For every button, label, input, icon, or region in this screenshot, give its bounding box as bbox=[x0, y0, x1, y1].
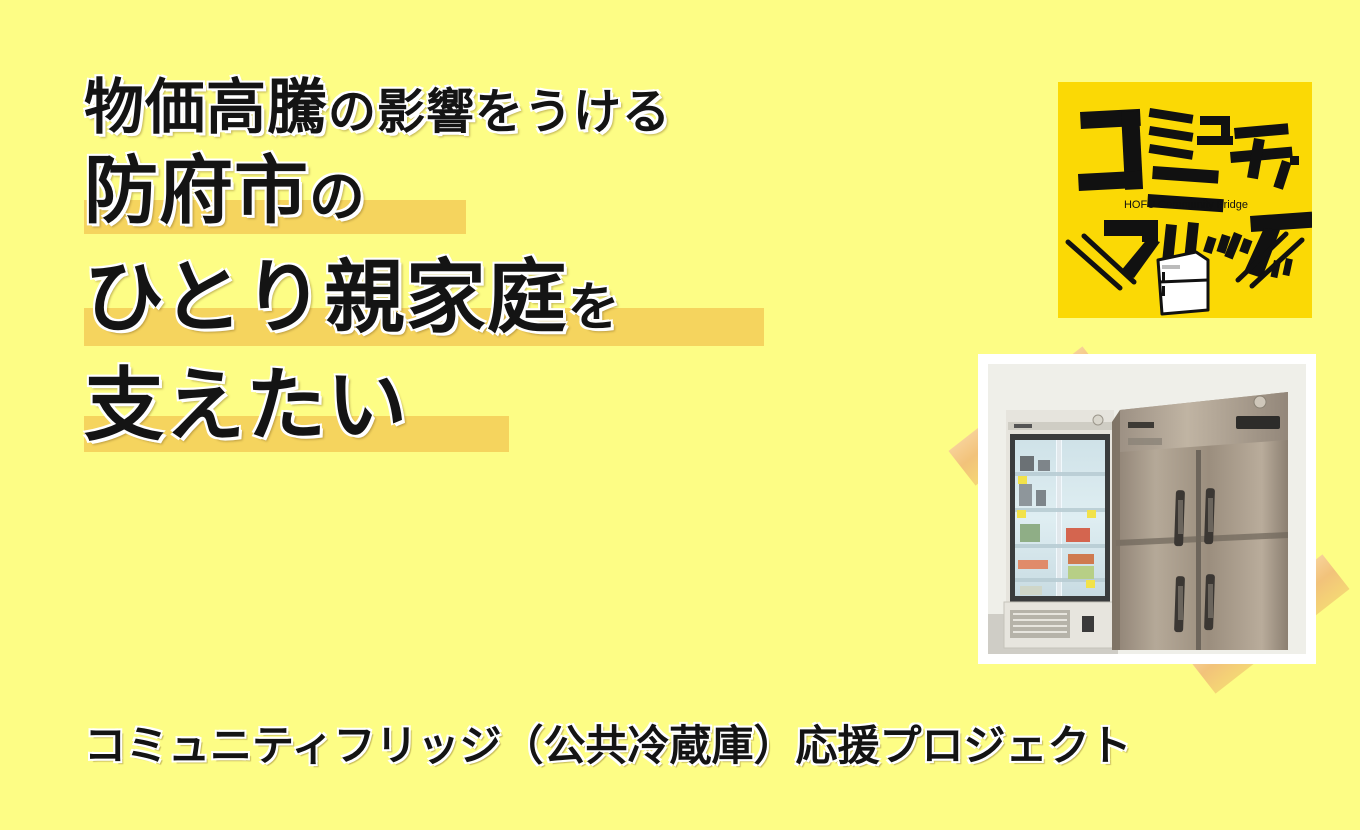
headline-line-3-tail: を bbox=[568, 279, 621, 337]
headline-line-2-tail: の bbox=[309, 165, 366, 228]
logo-char-ti bbox=[1230, 123, 1299, 189]
photo-card bbox=[952, 336, 1342, 676]
logo-sparkle-left bbox=[1068, 236, 1134, 288]
headline-line-3: ひとり親家庭を bbox=[84, 258, 924, 338]
logo-artwork: HOFU Community Fridge bbox=[1058, 82, 1312, 318]
headline-line-1-tail: の影響をうける bbox=[328, 86, 671, 139]
logo-char-mi bbox=[1149, 108, 1194, 160]
fridge-photo bbox=[988, 364, 1306, 654]
headline-line-1-emphasis: 物価高騰 bbox=[84, 74, 328, 141]
photo-frame bbox=[978, 354, 1316, 664]
headline-line-2: 防府市の bbox=[84, 154, 924, 228]
headline-block: 物価高騰の影響をうける 防府市の ひとり親家庭を 支えたい bbox=[84, 78, 924, 446]
logo-char-yu bbox=[1197, 116, 1233, 145]
logo-char-ko bbox=[1078, 109, 1143, 191]
community-fridge-logo: HOFU Community Fridge bbox=[1058, 82, 1312, 318]
fridge-icon bbox=[1158, 252, 1208, 314]
fridge-photo-artwork bbox=[988, 364, 1306, 654]
headline-line-3-emphasis: ひとり親家庭 bbox=[84, 253, 568, 342]
headline-line-4-emphasis: 支えたい bbox=[84, 361, 408, 450]
logo-subtitle: HOFU Community Fridge bbox=[1124, 199, 1248, 211]
headline-line-1: 物価高騰の影響をうける bbox=[84, 78, 924, 138]
headline-line-4: 支えたい bbox=[84, 366, 924, 446]
strapline: コミュニティフリッジ（公共冷蔵庫）応援プロジェクト bbox=[84, 712, 1131, 773]
headline-line-2-emphasis: 防府市 bbox=[84, 149, 309, 232]
